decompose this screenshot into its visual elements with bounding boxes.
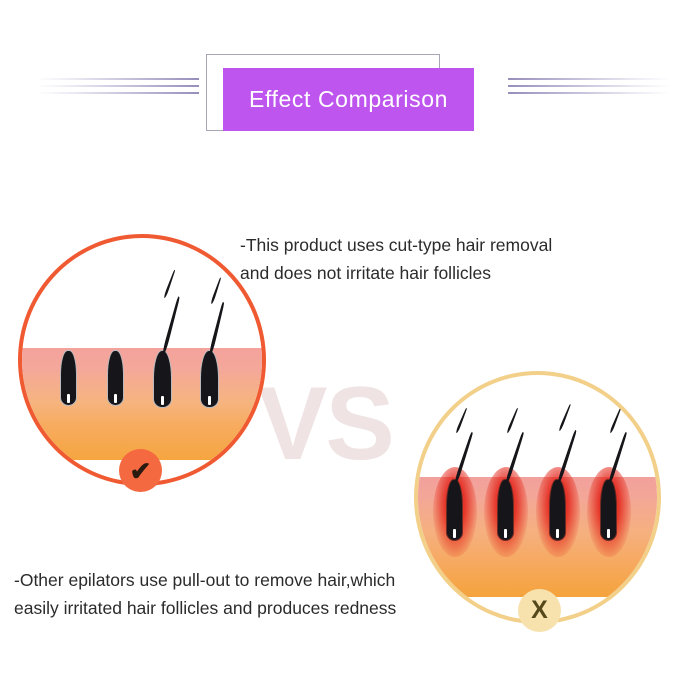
- check-icon: ✔: [119, 449, 162, 492]
- versus-label: VS: [258, 372, 393, 476]
- hair-shaft-tip: [210, 277, 222, 304]
- decorative-line: [36, 78, 199, 80]
- follicle-bulb: [107, 350, 124, 406]
- hair-shaft-tip: [455, 407, 468, 433]
- hair-shaft-tip: [506, 407, 519, 433]
- hair-shaft-tip: [609, 407, 622, 433]
- decorative-line: [508, 85, 671, 87]
- decorative-lines-left: [36, 76, 199, 102]
- follicle-bulb: [60, 350, 77, 406]
- follicle-bulb: [497, 479, 514, 541]
- good-description-text: -This product uses cut-type hair removal…: [240, 231, 640, 288]
- follicle-notch: [208, 396, 211, 405]
- decorative-lines-right: [508, 76, 671, 102]
- decorative-line: [36, 85, 199, 87]
- skin-layer-good: [18, 348, 266, 460]
- hair-shaft-tip: [558, 404, 572, 432]
- effect-comparison-infographic: Effect Comparison VS: [0, 0, 683, 683]
- cross-icon: X: [518, 589, 561, 632]
- follicle-bulb: [549, 479, 566, 541]
- title-banner: Effect Comparison: [223, 68, 474, 131]
- bad-description-text: -Other epilators use pull-out to remove …: [14, 566, 484, 623]
- follicle-bulb: [600, 479, 617, 541]
- follicle-notch: [161, 396, 164, 405]
- follicle-bulb: [200, 350, 219, 408]
- follicle-notch: [556, 529, 559, 538]
- follicle-bulb: [153, 350, 172, 408]
- follicle-notch: [114, 394, 117, 403]
- decorative-line: [508, 78, 671, 80]
- decorative-line: [508, 92, 671, 94]
- follicle-notch: [607, 529, 610, 538]
- follicle-bulb: [446, 479, 463, 541]
- follicle-notch: [504, 529, 507, 538]
- decorative-line: [36, 92, 199, 94]
- hair-shaft-tip: [163, 269, 176, 298]
- follicle-notch: [453, 529, 456, 538]
- page-title: Effect Comparison: [249, 86, 448, 113]
- follicle-notch: [67, 394, 70, 403]
